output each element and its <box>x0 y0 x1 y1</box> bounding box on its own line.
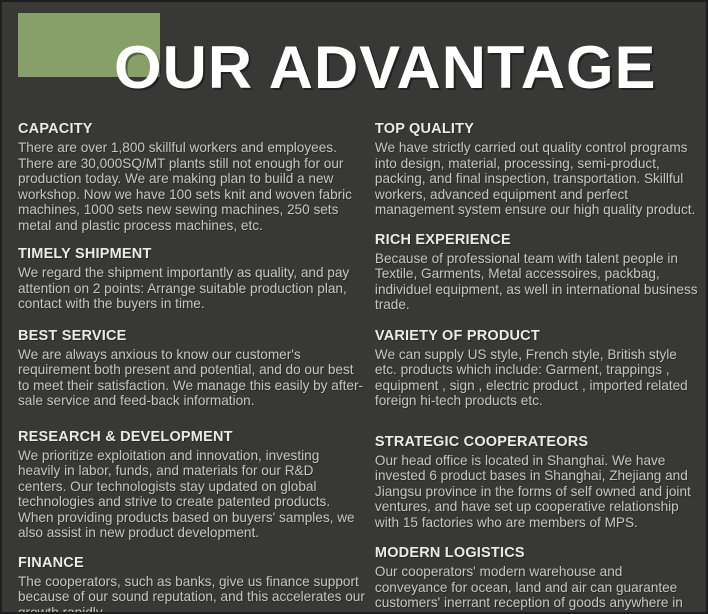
content-columns: CAPACITY There are over 1,800 skillful w… <box>2 120 706 612</box>
block-body: We are always anxious to know our custom… <box>18 347 365 409</box>
block-body: Our head office is located in Shanghai. … <box>375 453 698 531</box>
block-title: TIMELY SHIPMENT <box>18 245 365 264</box>
block-body: Our cooperators' modern warehouse and co… <box>375 564 698 614</box>
poster-header: OUR ADVANTAGE <box>2 2 706 120</box>
block-body: Because of professional team with talent… <box>375 251 698 313</box>
block-title: FINANCE <box>18 554 365 573</box>
advantage-block-research-development: RESEARCH & DEVELOPMENT We prioritize exp… <box>18 428 365 541</box>
block-body: We prioritize exploitation and innovatio… <box>18 448 365 541</box>
block-title: VARIETY OF PRODUCT <box>375 327 698 346</box>
block-title: RESEARCH & DEVELOPMENT <box>18 428 365 447</box>
advantage-block-modern-logistics: MODERN LOGISTICS Our cooperators' modern… <box>375 544 698 614</box>
advantage-block-top-quality: TOP QUALITY We have strictly carried out… <box>375 120 698 218</box>
page-title: OUR ADVANTAGE <box>114 38 657 98</box>
block-title: MODERN LOGISTICS <box>375 544 698 563</box>
right-column: TOP QUALITY We have strictly carried out… <box>375 120 706 612</box>
block-body: We can supply US style, French style, Br… <box>375 347 698 409</box>
block-body: The cooperators, such as banks, give us … <box>18 574 365 614</box>
advantage-poster: OUR ADVANTAGE CAPACITY There are over 1,… <box>0 0 708 614</box>
block-title: RICH EXPERIENCE <box>375 231 698 250</box>
advantage-block-finance: FINANCE The cooperators, such as banks, … <box>18 554 365 614</box>
block-body: We have strictly carried out quality con… <box>375 140 698 218</box>
advantage-block-variety-of-product: VARIETY OF PRODUCT We can supply US styl… <box>375 327 698 409</box>
advantage-block-best-service: BEST SERVICE We are always anxious to kn… <box>18 327 365 409</box>
block-title: CAPACITY <box>18 120 365 139</box>
advantage-block-capacity: CAPACITY There are over 1,800 skillful w… <box>18 120 365 233</box>
block-title: BEST SERVICE <box>18 327 365 346</box>
advantage-block-rich-experience: RICH EXPERIENCE Because of professional … <box>375 231 698 313</box>
advantage-block-strategic-cooperateors: STRATEGIC COOPERATEORS Our head office i… <box>375 433 698 531</box>
left-column: CAPACITY There are over 1,800 skillful w… <box>2 120 375 612</box>
block-body: We regard the shipment importantly as qu… <box>18 265 365 312</box>
block-body: There are over 1,800 skillful workers an… <box>18 140 365 233</box>
block-title: TOP QUALITY <box>375 120 698 139</box>
block-title: STRATEGIC COOPERATEORS <box>375 433 698 452</box>
advantage-block-timely-shipment: TIMELY SHIPMENT We regard the shipment i… <box>18 245 365 312</box>
